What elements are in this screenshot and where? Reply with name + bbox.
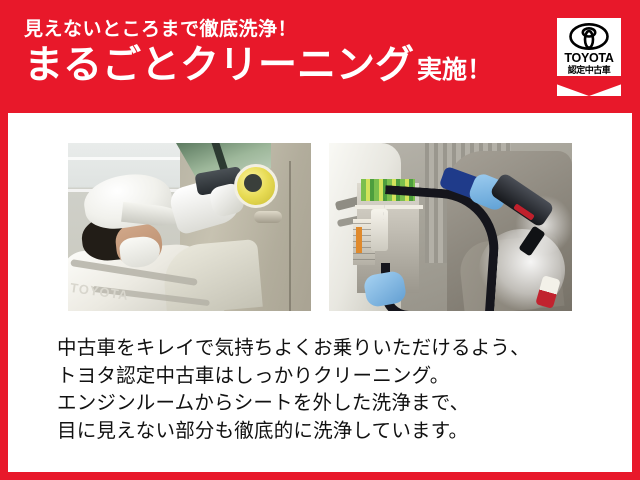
body-copy-line-3: エンジンルームからシートを外した洗浄まで、 [57,390,597,418]
cleaning-promo-poster: 見えないところまで徹底洗浄！ まるごとクリーニング 実施！ TOYOTA 認定中… [0,0,640,480]
polisher-hub [244,174,262,192]
body-copy-line-1: 中古車をキレイで気持ちよくお乗りいただけるよう、 [57,335,597,363]
steam-cleaning-photo [329,143,572,311]
badge-wordmark: TOYOTA [557,52,621,65]
header-text-block: 見えないところまで徹底洗浄！ まるごとクリーニング 実施！ [24,20,492,85]
page-title: まるごとクリーニング [24,46,414,85]
content-panel: TOYOTA [8,113,632,472]
headline-row: まるごとクリーニング 実施！ [24,46,492,85]
badge-chevron-shape [557,76,621,96]
exterior-polishing-photo: TOYOTA [68,143,311,311]
body-copy-line-4: 目に見えない部分も徹底的に洗浄しています。 [57,418,597,446]
body-copy-block: 中古車をキレイで気持ちよくお乗りいただけるよう、 トヨタ認定中古車はしっかりクリ… [57,335,597,445]
photo-row: TOYOTA [68,143,572,311]
door-handle-shape [254,211,282,223]
car-door-seam [289,161,291,311]
body-copy-line-2: トヨタ認定中古車はしっかりクリーニング。 [57,363,597,391]
badge-inner: TOYOTA 認定中古車 [557,18,621,96]
badge-japanese-label: 認定中古車 [557,66,621,75]
header-banner: 見えないところまで徹底洗浄！ まるごとクリーニング 実施！ TOYOTA 認定中… [0,0,640,113]
toyota-certified-badge: TOYOTA 認定中古車 [557,18,621,96]
toyota-emblem-icon [569,23,609,50]
headline-suffix: 実施！ [417,58,492,83]
subheadline: 見えないところまで徹底洗浄！ [24,20,492,39]
cart-orange-item [356,227,362,253]
